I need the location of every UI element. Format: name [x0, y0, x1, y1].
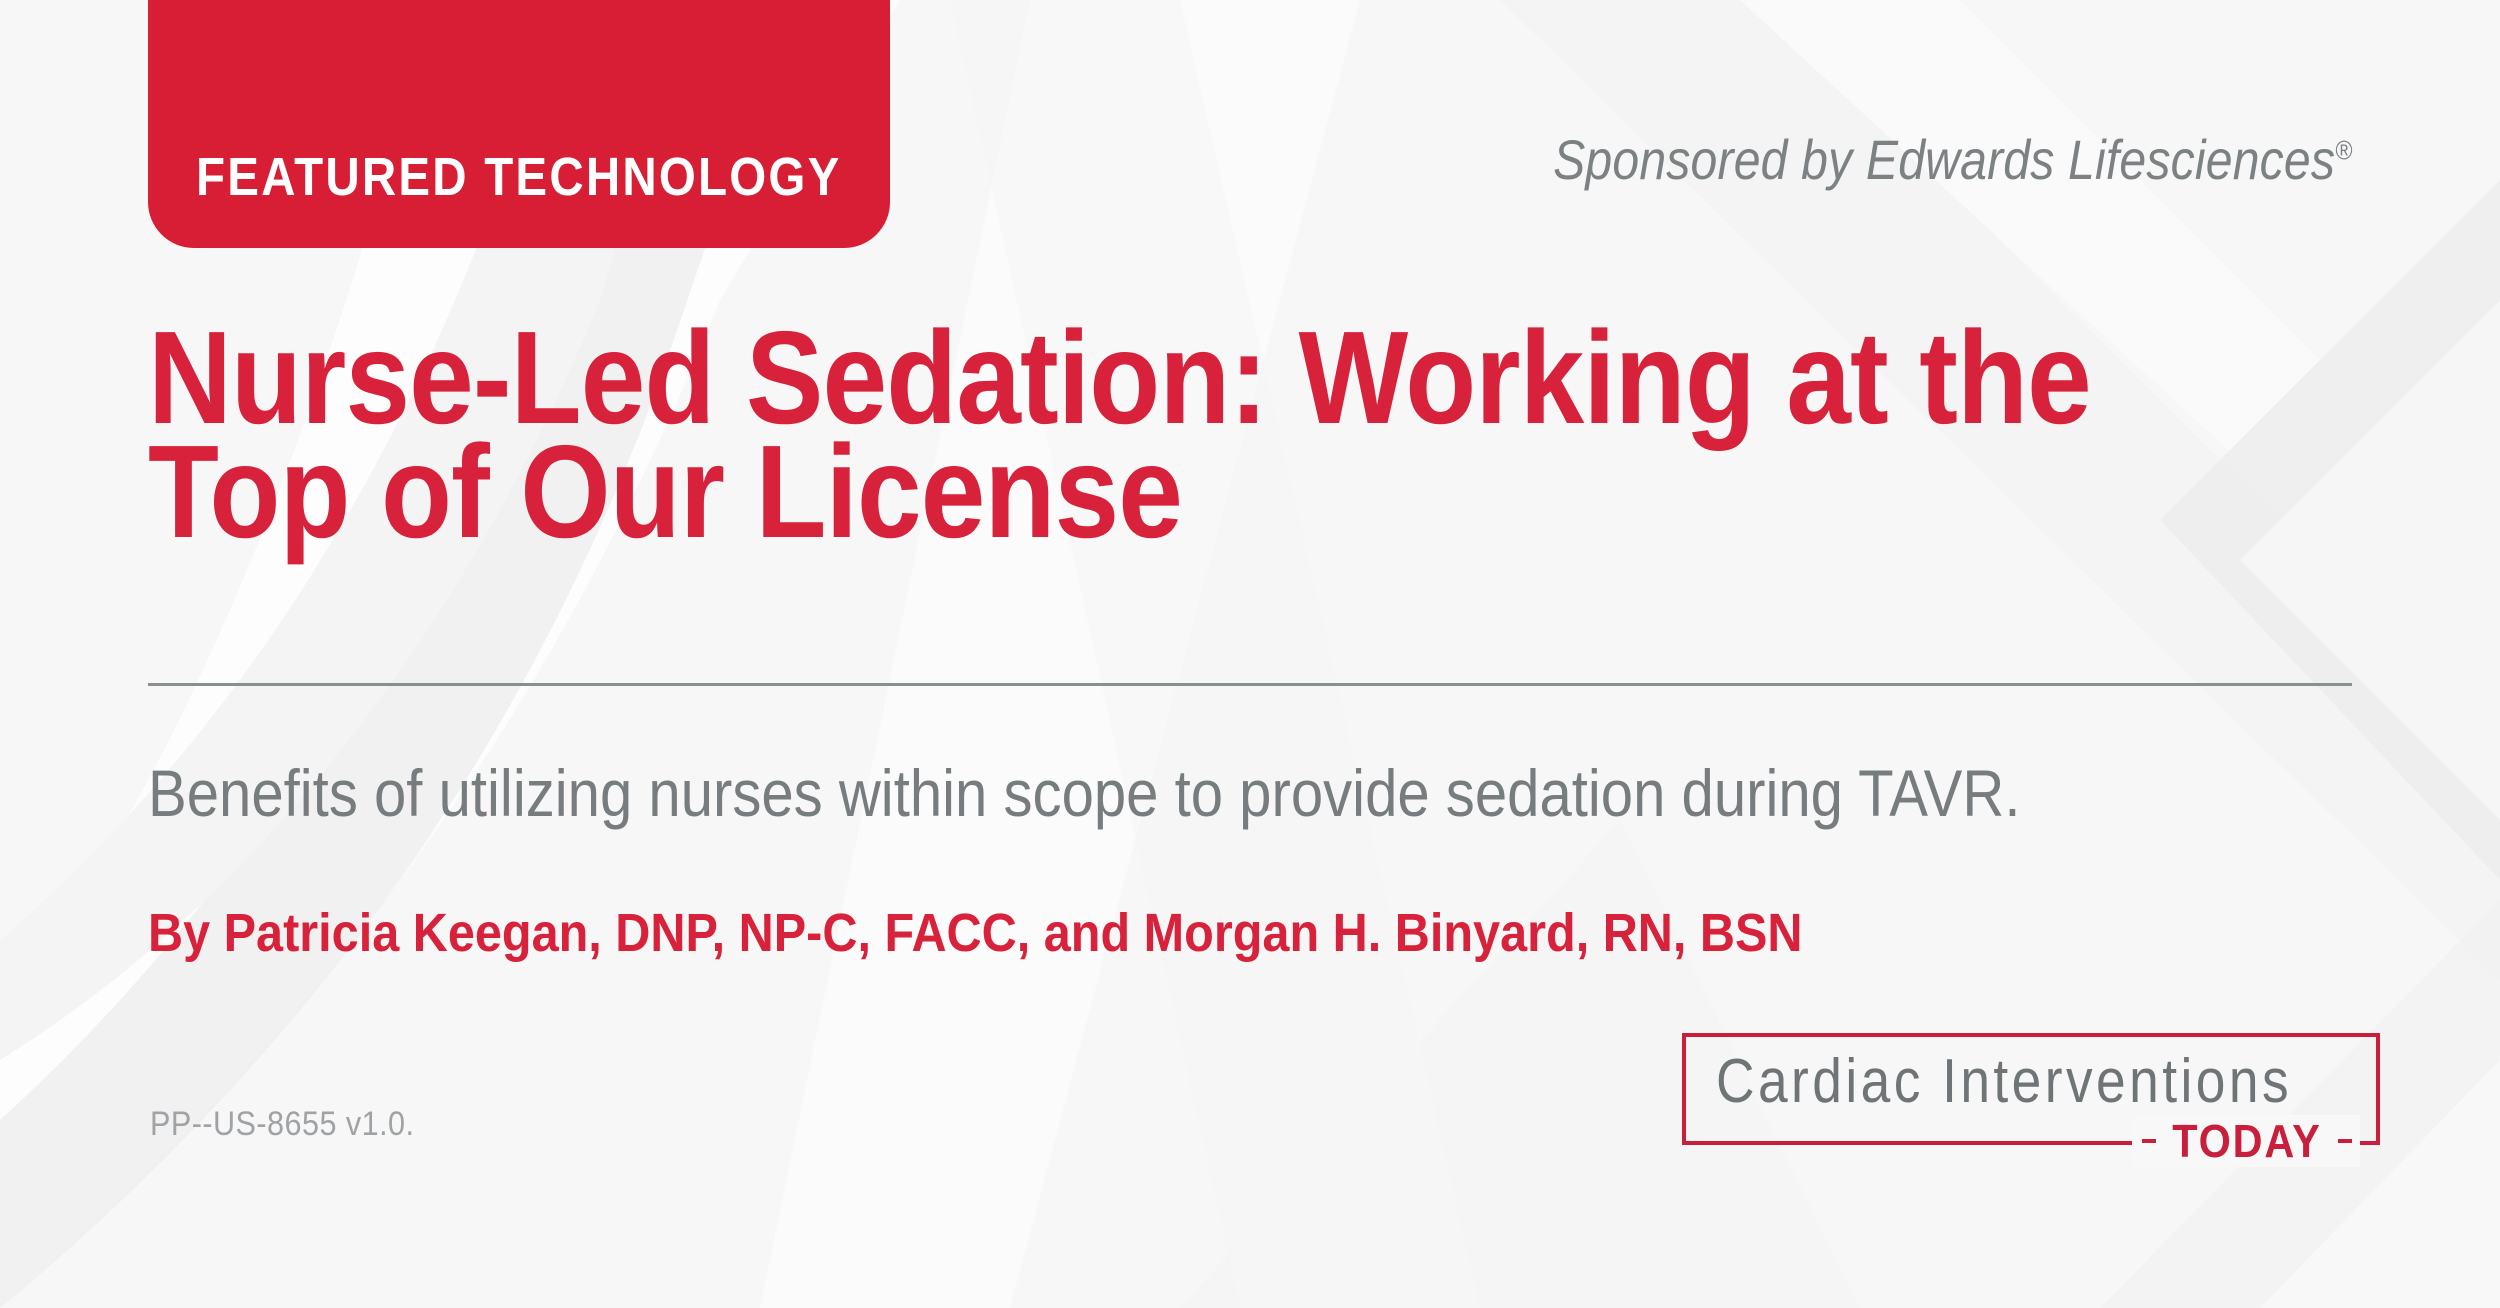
publication-logo-suffix-wrap: TODAY: [2132, 1115, 2360, 1167]
byline: By Patricia Keegan, DNP, NP-C, FACC, and…: [148, 906, 1803, 960]
publication-logo[interactable]: Cardiac Interventions TODAY: [1682, 1033, 2380, 1145]
sponsor-attribution: Sponsored by Edwards Lifesciences®: [1553, 132, 2352, 188]
publication-logo-name: Cardiac Interventions: [1716, 1051, 2292, 1113]
featured-technology-badge-label: FEATURED TECHNOLOGY: [196, 150, 841, 204]
logo-dash-left-icon: [2142, 1139, 2156, 1143]
sponsor-attribution-text: Sponsored by Edwards Lifesciences: [1553, 128, 2335, 191]
page-title: Nurse-Led Sedation: Working at the Top o…: [148, 321, 2368, 549]
product-code: PP--US-8655 v1.0.: [150, 1107, 414, 1141]
logo-dash-right-icon: [2338, 1139, 2352, 1143]
page-title-line-2: Top of Our License: [148, 435, 2102, 549]
article-hero-banner: FEATURED TECHNOLOGY Sponsored by Edwards…: [0, 0, 2500, 1308]
publication-logo-suffix: TODAY: [2172, 1118, 2321, 1164]
horizontal-divider: [148, 683, 2352, 686]
featured-technology-badge: FEATURED TECHNOLOGY: [148, 0, 890, 248]
page-subtitle: Benefits of utilizing nurses within scop…: [148, 760, 2020, 826]
registered-trademark-icon: ®: [2335, 135, 2352, 165]
